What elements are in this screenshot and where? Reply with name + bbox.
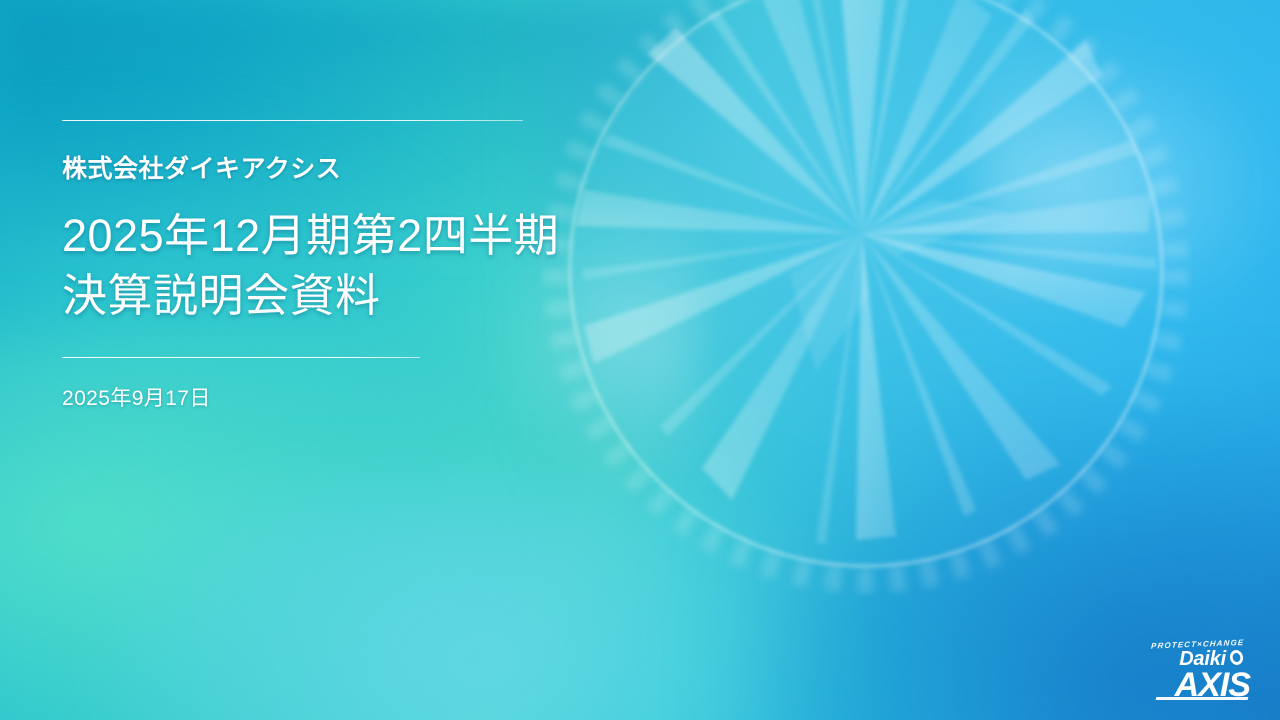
compass-topright-glow: [980, 30, 1280, 290]
page-title-line-2: 決算説明会資料: [62, 266, 702, 326]
logo-underline-stroke: [1156, 697, 1249, 700]
presentation-date: 2025年9月17日: [62, 382, 702, 412]
divider-top: [62, 120, 523, 121]
title-block: 株式会社ダイキアクシス 2025年12月期第2四半期 決算説明会資料 2025年…: [62, 120, 702, 412]
logo-ring-icon: [1228, 649, 1244, 667]
daiki-axis-logo: PROTECT×CHANGE Daiki AXIS: [1102, 638, 1252, 702]
page-title-line-1: 2025年12月期第2四半期: [62, 206, 702, 266]
background-cyan-bloom: [102, 490, 844, 720]
divider-bottom: [62, 357, 420, 358]
title-slide: 株式会社ダイキアクシス 2025年12月期第2四半期 決算説明会資料 2025年…: [0, 0, 1280, 720]
company-name: 株式会社ダイキアクシス: [62, 157, 702, 182]
page-title: 2025年12月期第2四半期 決算説明会資料: [62, 206, 702, 327]
